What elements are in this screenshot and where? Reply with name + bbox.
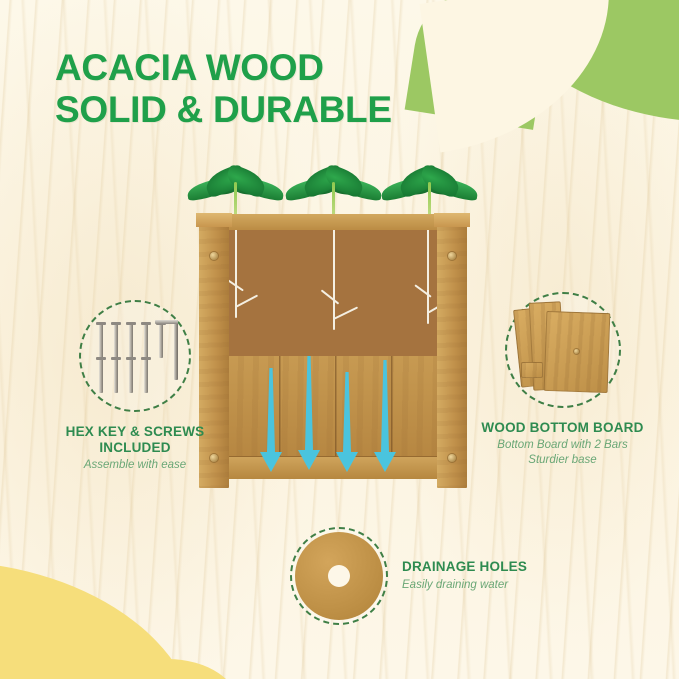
top-rail bbox=[211, 214, 461, 230]
front-slats bbox=[223, 356, 449, 472]
board-bar bbox=[521, 362, 543, 378]
root bbox=[334, 306, 358, 319]
feature-subtitle: Bottom Board with 2 Bars Sturdier base bbox=[460, 438, 665, 468]
screw-icon bbox=[129, 324, 133, 358]
hex-key-icon bbox=[174, 320, 178, 380]
screw-icon bbox=[114, 324, 118, 358]
screw-icon bbox=[144, 324, 148, 358]
root bbox=[333, 226, 335, 330]
screw-icon bbox=[159, 324, 163, 358]
screw-icon bbox=[99, 359, 103, 393]
screw-head-icon bbox=[448, 454, 456, 462]
screw-icon bbox=[144, 359, 148, 393]
screw-icon bbox=[129, 359, 133, 393]
drainage-hole bbox=[328, 565, 350, 587]
page-title: ACACIA WOOD SOLID & DURABLE bbox=[55, 47, 392, 131]
root bbox=[414, 284, 431, 297]
feature-hex-key-screws: HEX KEY & SCREWS INCLUDED Assemble with … bbox=[40, 300, 230, 473]
soil-cross-section bbox=[223, 226, 449, 376]
feature-text-block: DRAINAGE HOLES Easily draining water bbox=[402, 559, 527, 592]
feature-subtitle: Easily draining water bbox=[402, 578, 527, 593]
feature-title: WOOD BOTTOM BOARD bbox=[460, 420, 665, 436]
root bbox=[321, 289, 340, 304]
feature-title: HEX KEY & SCREWS INCLUDED bbox=[40, 424, 230, 456]
feature-subtitle: Assemble with ease bbox=[40, 458, 230, 473]
post-cap bbox=[434, 213, 470, 227]
screw-head-icon bbox=[573, 349, 578, 354]
feature-title: DRAINAGE HOLES bbox=[402, 559, 527, 575]
planter-illustration bbox=[185, 160, 485, 500]
bottom-rail bbox=[223, 456, 449, 479]
post-cap bbox=[196, 213, 232, 227]
wood-boards-icon bbox=[505, 292, 621, 408]
drainage-disc-icon bbox=[290, 527, 388, 625]
board-front bbox=[543, 311, 610, 393]
screw-head-icon bbox=[210, 252, 218, 260]
feature-drainage-holes: DRAINAGE HOLES Easily draining water bbox=[290, 527, 540, 625]
root bbox=[236, 294, 258, 307]
screws-and-hex-key-icon bbox=[79, 300, 191, 412]
product-infographic: ACACIA WOOD SOLID & DURABLE bbox=[0, 0, 679, 679]
root bbox=[427, 226, 429, 324]
screw-icon bbox=[114, 359, 118, 393]
screw-head-icon bbox=[448, 252, 456, 260]
wood-disc bbox=[295, 532, 383, 620]
seedling-2 bbox=[285, 160, 381, 222]
screw-icon bbox=[99, 324, 103, 358]
feature-wood-bottom-board: WOOD BOTTOM BOARD Bottom Board with 2 Ba… bbox=[460, 292, 665, 468]
